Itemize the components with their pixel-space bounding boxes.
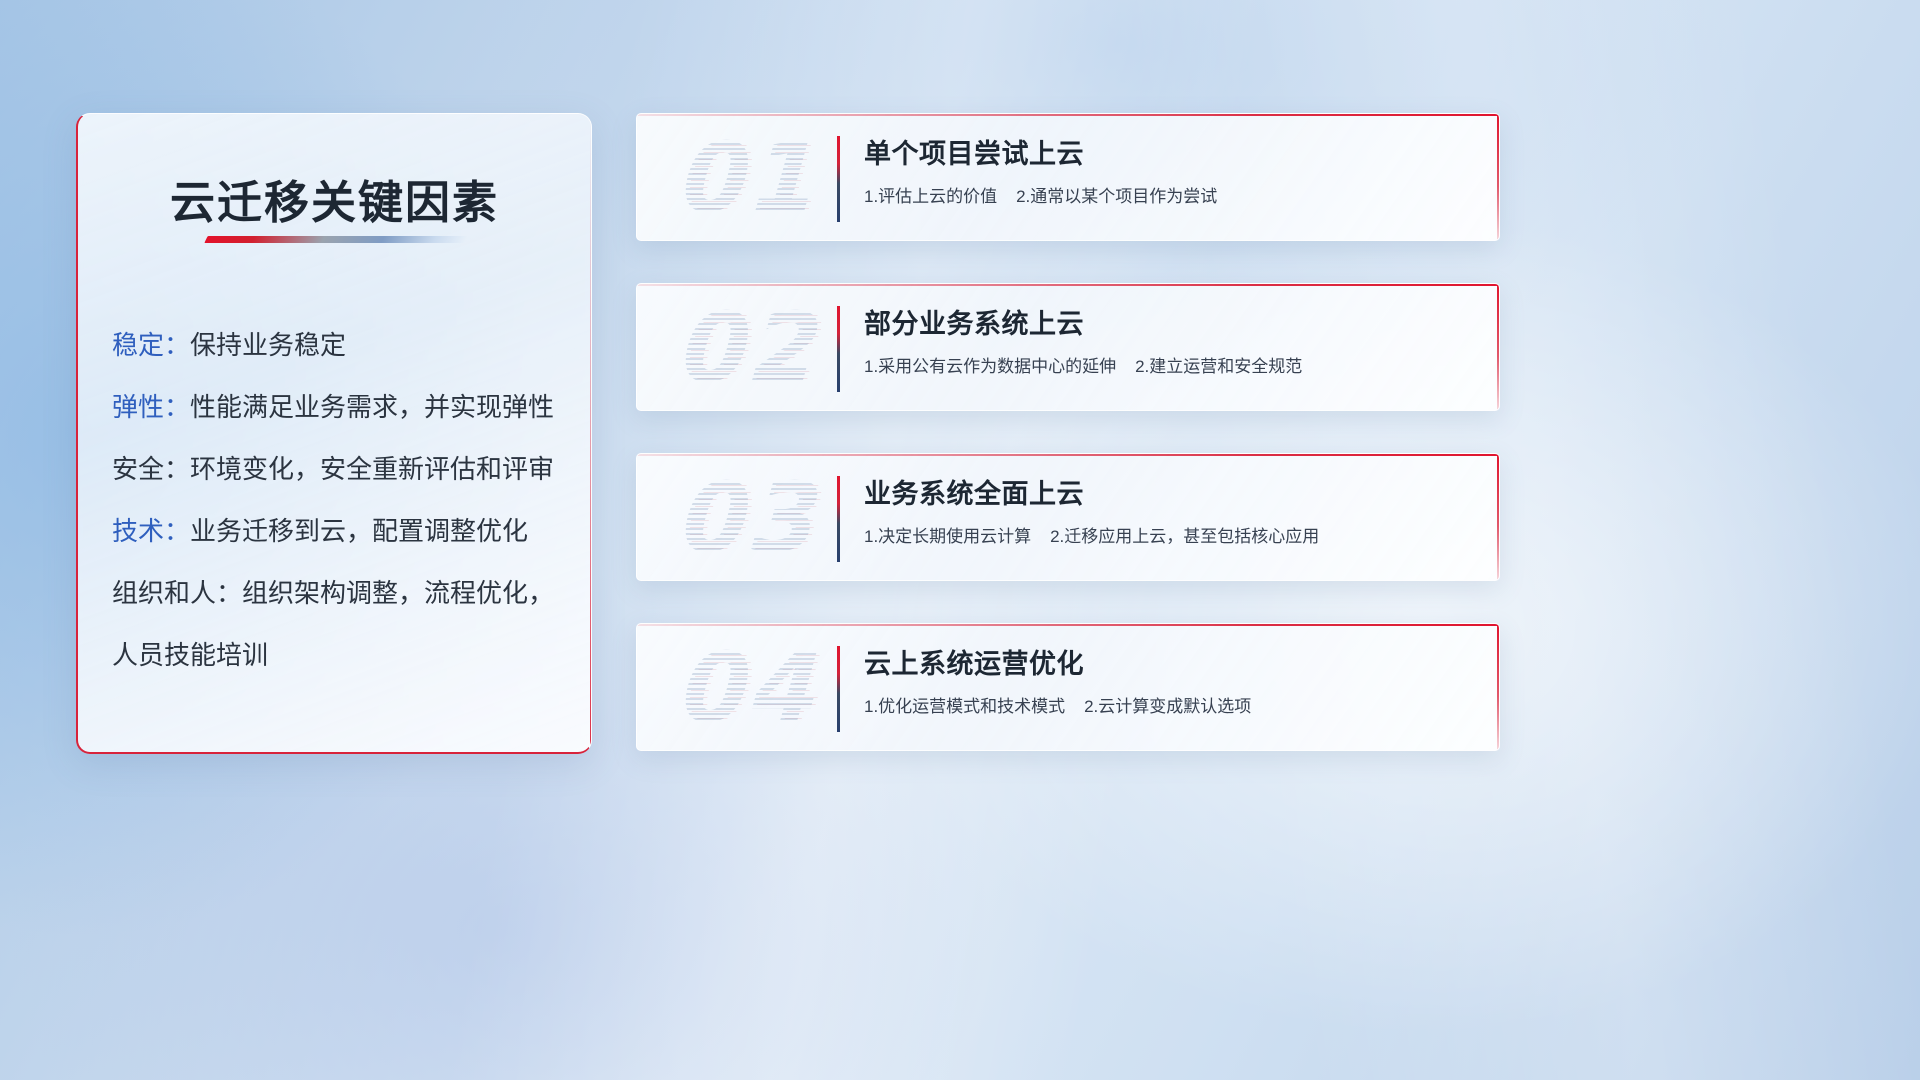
factor-text-elasticity: 性能满足业务需求，并实现弹性 [190, 392, 554, 422]
factor-item-security: 安全：环境变化，安全重新评估和评审 [112, 438, 571, 500]
step-title-01: 单个项目尝试上云 [864, 134, 1475, 174]
factor-label-stability: 稳定： [112, 330, 190, 360]
factor-label-security: 安全： [112, 454, 190, 484]
step-title-04: 云上系统运营优化 [864, 644, 1475, 684]
step-divider-03 [837, 476, 840, 562]
step-card-04[interactable]: 04 04 云上系统运营优化 1.优化运营模式和技术模式 2.云计算变成默认选项 [636, 623, 1500, 751]
factor-text-technology: 业务迁移到云，配置调整优化 [190, 516, 528, 546]
step-body-01: 单个项目尝试上云 1.评估上云的价值 2.通常以某个项目作为尝试 [864, 134, 1475, 210]
factor-text-stability: 保持业务稳定 [190, 330, 346, 360]
factor-text-organization: 组织架构调整，流程优化， [242, 578, 554, 608]
step-title-03: 业务系统全面上云 [864, 474, 1475, 514]
step-subtitle-03: 1.决定长期使用云计算 2.迁移应用上云，甚至包括核心应用 [864, 524, 1475, 550]
factor-text-security: 环境变化，安全重新评估和评审 [190, 454, 554, 484]
step-body-02: 部分业务系统上云 1.采用公有云作为数据中心的延伸 2.建立运营和安全规范 [864, 304, 1475, 380]
step-card-03[interactable]: 03 03 业务系统全面上云 1.决定长期使用云计算 2.迁移应用上云，甚至包括… [636, 453, 1500, 581]
step-number-01: 01 [654, 118, 854, 238]
step-title-02: 部分业务系统上云 [864, 304, 1475, 344]
factor-item-stability: 稳定：保持业务稳定 [112, 314, 571, 376]
slide-canvas: 云迁移关键因素 稳定：保持业务稳定 弹性：性能满足业务需求，并实现弹性 安全：环… [0, 0, 1920, 1080]
factor-item-technology: 技术：业务迁移到云，配置调整优化 [112, 500, 571, 562]
step-number-04: 04 [654, 628, 854, 748]
factor-item-elasticity: 弹性：性能满足业务需求，并实现弹性 [112, 376, 571, 438]
step-subtitle-02: 1.采用公有云作为数据中心的延伸 2.建立运营和安全规范 [864, 354, 1475, 380]
step-divider-02 [837, 306, 840, 392]
title-underline-rule [204, 236, 467, 243]
factor-text-organization-continued: 人员技能培训 [112, 624, 571, 686]
step-number-02: 02 [654, 288, 854, 408]
step-divider-04 [837, 646, 840, 732]
step-subtitle-04: 1.优化运营模式和技术模式 2.云计算变成默认选项 [864, 694, 1475, 720]
step-divider-01 [837, 136, 840, 222]
factor-label-elasticity: 弹性： [112, 392, 190, 422]
key-factors-panel: 云迁移关键因素 稳定：保持业务稳定 弹性：性能满足业务需求，并实现弹性 安全：环… [76, 113, 592, 754]
step-body-04: 云上系统运营优化 1.优化运营模式和技术模式 2.云计算变成默认选项 [864, 644, 1475, 720]
step-card-02[interactable]: 02 02 部分业务系统上云 1.采用公有云作为数据中心的延伸 2.建立运营和安… [636, 283, 1500, 411]
factor-label-organization: 组织和人： [112, 578, 242, 608]
step-card-01[interactable]: 01 01 单个项目尝试上云 1.评估上云的价值 2.通常以某个项目作为尝试 [636, 113, 1500, 241]
factor-item-organization: 组织和人：组织架构调整，流程优化， [112, 562, 571, 624]
step-body-03: 业务系统全面上云 1.决定长期使用云计算 2.迁移应用上云，甚至包括核心应用 [864, 474, 1475, 550]
step-number-03: 03 [654, 458, 854, 578]
factor-label-technology: 技术： [112, 516, 190, 546]
panel-title: 云迁移关键因素 [78, 166, 591, 231]
step-subtitle-01: 1.评估上云的价值 2.通常以某个项目作为尝试 [864, 184, 1475, 210]
key-factors-list: 稳定：保持业务稳定 弹性：性能满足业务需求，并实现弹性 安全：环境变化，安全重新… [112, 314, 571, 686]
